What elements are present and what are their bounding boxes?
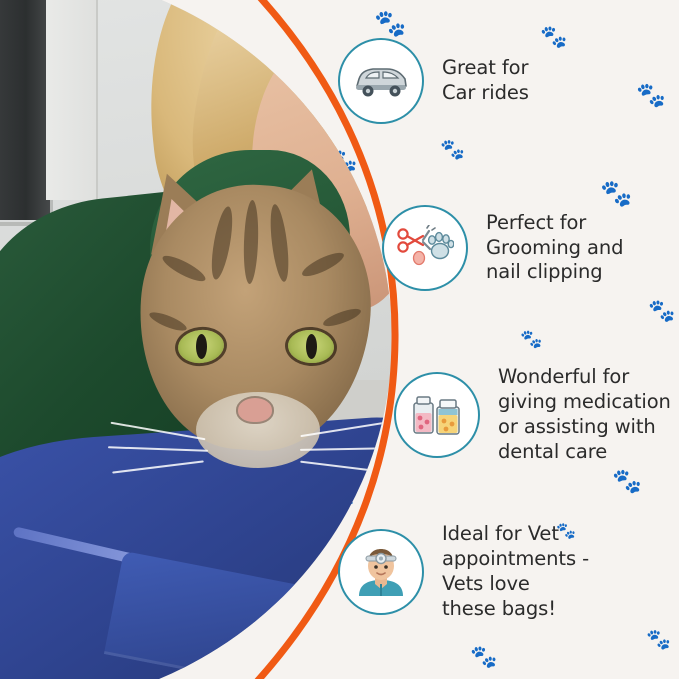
car-icon — [338, 38, 424, 124]
feature-label: Wonderful for giving medication or assis… — [498, 365, 671, 465]
feature-item-vet: Ideal for Vet appointments - Vets love t… — [338, 522, 589, 622]
infographic-canvas: 🐾 🐾 🐾 🐾 🐾 🐾 🐾 🐾 🐾 🐾 🐾 🐾 🐾 🐾 — [0, 0, 679, 679]
photo-cabinet-light — [46, 0, 98, 200]
feature-label: Great for Car rides — [442, 56, 529, 106]
medication-bottles-icon — [394, 372, 480, 458]
feature-label: Ideal for Vet appointments - Vets love t… — [442, 522, 589, 622]
cat-pupil-left — [196, 334, 207, 359]
feature-item-car-rides: Great for Car rides — [338, 38, 529, 124]
feature-label: Perfect for Grooming and nail clipping — [486, 211, 623, 286]
veterinarian-icon — [338, 529, 424, 615]
cat-nose — [238, 398, 272, 422]
feature-item-medication: Wonderful for giving medication or assis… — [394, 365, 671, 465]
cat-pupil-right — [306, 334, 317, 359]
feature-list: Great for Car rides — [330, 0, 679, 679]
grooming-scissors-and-paw-icon — [382, 205, 468, 291]
feature-item-grooming: Perfect for Grooming and nail clipping — [382, 205, 623, 291]
